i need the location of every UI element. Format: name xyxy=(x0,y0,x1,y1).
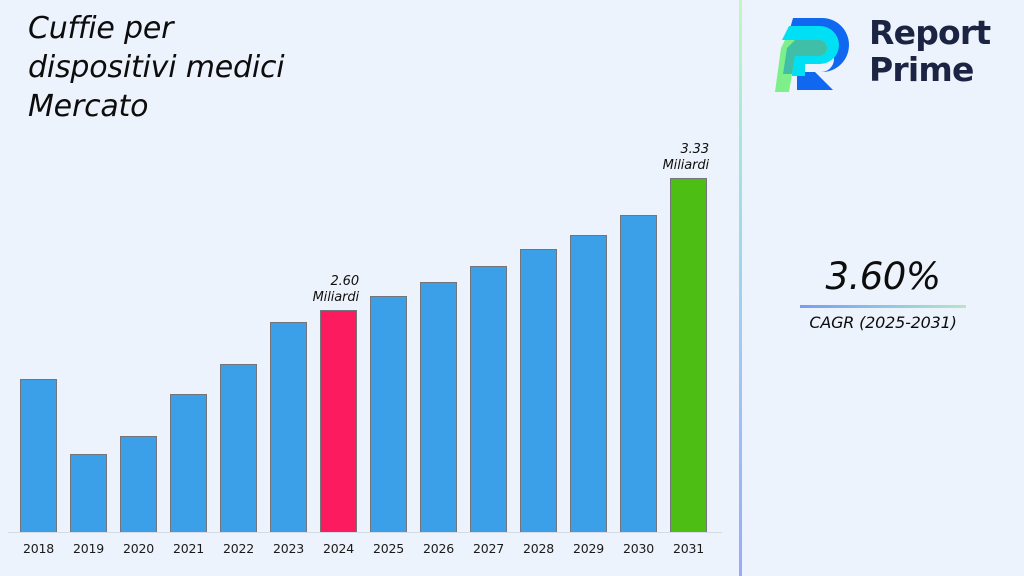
x-tick-2025: 2025 xyxy=(364,541,414,557)
x-tick-2018: 2018 xyxy=(14,541,64,557)
bar-value-label-2024: 2.60 Miliardi xyxy=(239,274,359,306)
bar-2022 xyxy=(220,364,257,532)
x-axis-line xyxy=(8,532,722,533)
bar-2027 xyxy=(470,266,507,532)
x-tick-2027: 2027 xyxy=(464,541,514,557)
cagr-block: 3.60% CAGR (2025-2031) xyxy=(742,255,1024,333)
bar-2019 xyxy=(70,454,107,532)
bar-2029 xyxy=(570,235,607,532)
x-tick-2020: 2020 xyxy=(114,541,164,557)
bar-2023 xyxy=(270,322,307,532)
bar-chart-plot: 2.60 Miliardi3.33 Miliardi xyxy=(0,0,739,534)
chart-panel: Cuffie per dispositivi medici Mercato 2.… xyxy=(0,0,739,576)
x-tick-2023: 2023 xyxy=(264,541,314,557)
cagr-caption: CAGR (2025-2031) xyxy=(742,312,1024,333)
x-tick-2031: 2031 xyxy=(664,541,714,557)
x-tick-2019: 2019 xyxy=(64,541,114,557)
bar-2030 xyxy=(620,215,657,532)
bar-2021 xyxy=(170,394,207,532)
report-prime-logo: Report Prime xyxy=(775,10,1005,95)
x-tick-2022: 2022 xyxy=(214,541,264,557)
x-tick-2028: 2028 xyxy=(514,541,564,557)
x-tick-2030: 2030 xyxy=(614,541,664,557)
x-tick-2021: 2021 xyxy=(164,541,214,557)
bar-2018 xyxy=(20,379,57,532)
bar-2028 xyxy=(520,249,557,532)
bar-2031 xyxy=(670,178,707,532)
cagr-value: 3.60% xyxy=(742,255,1024,299)
bar-2025 xyxy=(370,296,407,532)
x-tick-2026: 2026 xyxy=(414,541,464,557)
bar-value-label-2031: 3.33 Miliardi xyxy=(589,142,709,174)
logo-wordmark: Report Prime xyxy=(869,14,1009,88)
cagr-divider-rule xyxy=(800,305,966,308)
report-prime-r-mark xyxy=(775,14,857,92)
market-chart-infographic: Cuffie per dispositivi medici Mercato 2.… xyxy=(0,0,1024,576)
bar-2024 xyxy=(320,310,357,532)
x-tick-2024: 2024 xyxy=(314,541,364,557)
bar-2020 xyxy=(120,436,157,532)
bar-2026 xyxy=(420,282,457,532)
x-tick-2029: 2029 xyxy=(564,541,614,557)
branding-panel: Report Prime 3.60% CAGR (2025-2031) xyxy=(742,0,1024,576)
